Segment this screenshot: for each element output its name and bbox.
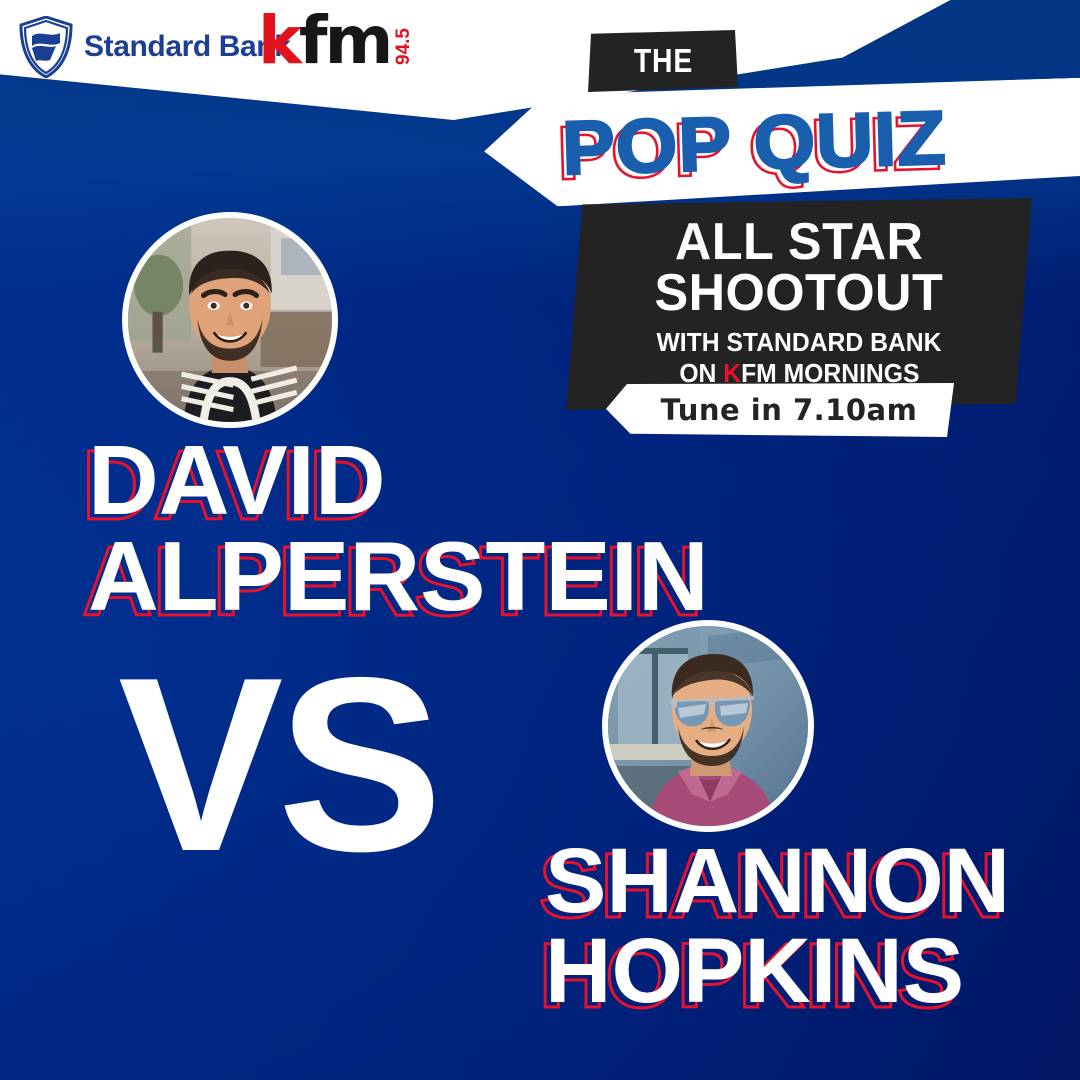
pop-quiz-poster: Standard Bank k fm 94.5 THE POP QUIZ ALL… bbox=[0, 0, 1080, 1080]
subtitle-all-star: ALL STAR bbox=[675, 216, 924, 269]
contestant-1-avatar bbox=[122, 212, 338, 428]
standard-bank-shield-icon bbox=[18, 16, 74, 78]
tune-in-tab: Tune in 7.10am bbox=[606, 383, 954, 437]
kfm-frequency: 94.5 bbox=[393, 28, 415, 65]
contestant-2-last-name: HOPKINS bbox=[545, 926, 1010, 1016]
contestant-1-first-name: DAVID bbox=[88, 432, 709, 528]
show-line-k-highlight: K bbox=[723, 358, 741, 388]
contestant-2-avatar bbox=[602, 620, 814, 832]
kfm-letter-k: k bbox=[258, 14, 299, 68]
standard-bank-logo: Standard Bank bbox=[18, 16, 291, 78]
sponsor-line: WITH STANDARD BANK bbox=[657, 328, 942, 358]
kfm-logo: k fm 94.5 bbox=[258, 14, 415, 68]
show-line-prefix: ON bbox=[679, 358, 723, 388]
kfm-letters-fm: fm bbox=[299, 14, 391, 68]
contestant-2-name: SHANNON HOPKINS bbox=[545, 836, 1010, 1016]
subtitle-shootout: SHOOTOUT bbox=[655, 267, 944, 320]
contestant-1-name: DAVID ALPERSTEIN bbox=[88, 432, 709, 624]
contestant-2-first-name: SHANNON bbox=[545, 836, 1010, 926]
the-label-tab: THE bbox=[588, 30, 738, 92]
versus-block: VS bbox=[118, 650, 437, 878]
tune-in-label: Tune in 7.10am bbox=[661, 393, 918, 427]
the-label: THE bbox=[633, 42, 692, 80]
versus-label: VS bbox=[118, 650, 437, 878]
contestant-1-last-name: ALPERSTEIN bbox=[88, 528, 709, 624]
pop-quiz-title: POP QUIZ bbox=[561, 100, 948, 187]
all-star-shootout-block: ALL STAR SHOOTOUT WITH STANDARD BANK ON … bbox=[566, 198, 1032, 410]
